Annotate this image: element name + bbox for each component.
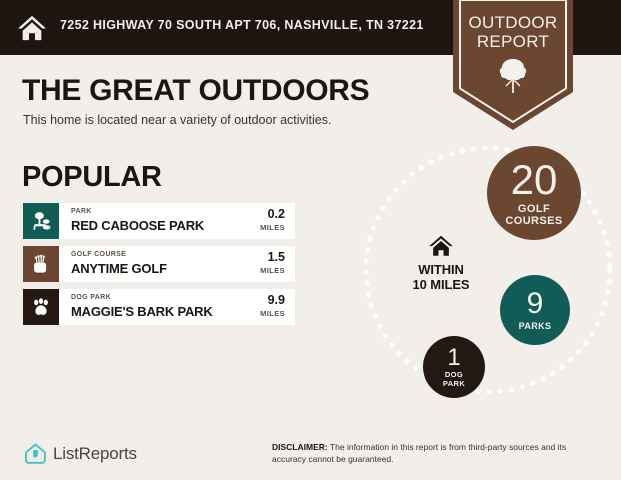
list-item-distance: 0.2 [225, 208, 285, 221]
stat-label: DOG PARK [443, 371, 465, 388]
within-10-miles-diagram: 20 GOLF COURSES 9 PARKS 1 DOG PARK WITHI… [355, 140, 621, 410]
list-item[interactable]: PARK RED CABOOSE PARK 0.2 MILES [23, 203, 295, 239]
list-item[interactable]: GOLF COURSE ANYTIME GOLF 1.5 MILES [23, 246, 295, 282]
house-icon [17, 14, 47, 42]
popular-list: PARK RED CABOOSE PARK 0.2 MILES [23, 203, 295, 332]
list-item-card: PARK RED CABOOSE PARK 0.2 MILES [59, 203, 295, 239]
listreports-logo[interactable]: ListReports [24, 442, 137, 465]
outdoor-report-page: 7252 HIGHWAY 70 SOUTH APT 706, NASHVILLE… [0, 0, 621, 480]
stat-label: PARKS [519, 321, 552, 331]
badge-title-line1: OUTDOOR [453, 13, 573, 32]
center-label-line1: WITHIN [389, 262, 493, 277]
property-address: 7252 HIGHWAY 70 SOUTH APT 706, NASHVILLE… [60, 18, 424, 32]
diagram-center: WITHIN 10 MILES [389, 235, 493, 292]
list-item-unit: MILES [225, 223, 285, 232]
stat-circle-golf-courses[interactable]: 20 GOLF COURSES [487, 146, 581, 240]
disclaimer-label: DISCLAIMER: [272, 442, 328, 452]
golf-bag-icon [23, 246, 59, 282]
stat-value: 20 [511, 159, 558, 201]
page-subtitle: This home is located near a variety of o… [23, 113, 331, 127]
disclaimer: DISCLAIMER: The information in this repo… [272, 442, 602, 465]
stat-circle-dog-park[interactable]: 1 DOG PARK [423, 336, 485, 398]
list-item-card: DOG PARK MAGGIE'S BARK PARK 9.9 MILES [59, 289, 295, 325]
paw-print-icon [23, 289, 59, 325]
stat-value: 9 [527, 289, 544, 319]
badge-title: OUTDOOR REPORT [453, 13, 573, 51]
stat-label: GOLF COURSES [505, 203, 562, 228]
park-tree-icon [23, 203, 59, 239]
diagram-center-label: WITHIN 10 MILES [389, 262, 493, 292]
stat-label-line2: PARK [443, 380, 465, 388]
stat-circle-parks[interactable]: 9 PARKS [500, 275, 570, 345]
listreports-house-logo [24, 442, 47, 465]
list-item-distance: 1.5 [225, 251, 285, 264]
list-item[interactable]: DOG PARK MAGGIE'S BARK PARK 9.9 MILES [23, 289, 295, 325]
center-label-line2: 10 MILES [389, 277, 493, 292]
list-item-name: RED CABOOSE PARK [71, 218, 204, 233]
stat-label-line2: COURSES [505, 215, 562, 227]
list-item-category: PARK [71, 208, 92, 215]
list-item-distance: 9.9 [225, 294, 285, 307]
list-item-category: DOG PARK [71, 294, 111, 301]
list-item-name: MAGGIE'S BARK PARK [71, 304, 213, 319]
list-item-unit: MILES [225, 266, 285, 275]
stat-value: 1 [447, 346, 460, 370]
stat-label-line1: GOLF [505, 203, 562, 215]
list-item-name: ANYTIME GOLF [71, 261, 167, 276]
listreports-logo-text: ListReports [53, 444, 137, 464]
popular-heading: POPULAR [22, 161, 162, 194]
list-item-category: GOLF COURSE [71, 251, 126, 258]
house-icon [428, 235, 454, 257]
outdoor-report-badge: OUTDOOR REPORT [453, 0, 573, 132]
list-item-unit: MILES [225, 309, 285, 318]
list-item-card: GOLF COURSE ANYTIME GOLF 1.5 MILES [59, 246, 295, 282]
page-title: THE GREAT OUTDOORS [22, 74, 369, 108]
badge-title-line2: REPORT [453, 32, 573, 51]
